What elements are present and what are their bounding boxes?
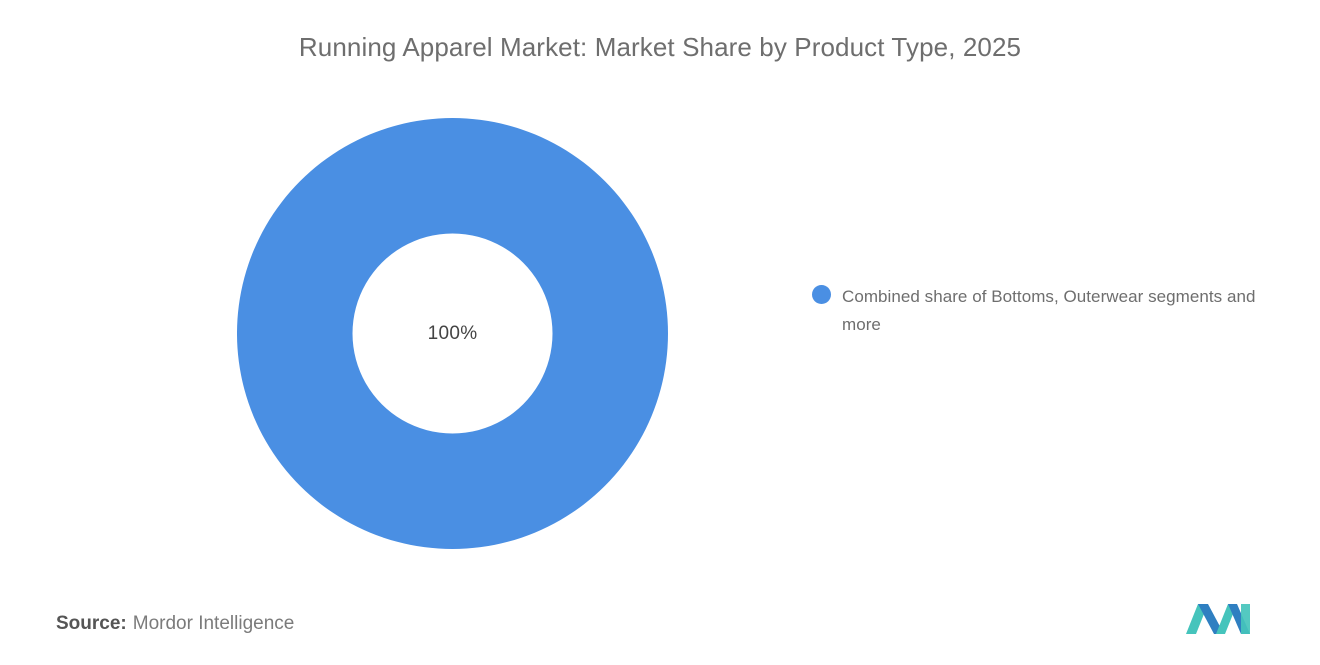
legend-swatch-icon [812,285,831,304]
legend-item[interactable]: Combined share of Bottoms, Outerwear seg… [812,283,1257,339]
donut-chart: 100% [237,118,668,549]
donut-svg [237,118,668,549]
source-value: Mordor Intelligence [133,613,295,634]
mordor-intelligence-logo [1184,600,1252,638]
legend-item-label: Combined share of Bottoms, Outerwear seg… [842,283,1257,339]
logo-icon [1184,600,1252,638]
source-attribution: Source:Mordor Intelligence [56,613,294,635]
chart-plot-area: 100% [0,95,790,575]
source-label: Source: [56,613,127,634]
donut-slice-combined-share[interactable] [237,118,668,549]
chart-legend: Combined share of Bottoms, Outerwear seg… [812,283,1257,339]
chart-title: Running Apparel Market: Market Share by … [0,32,1320,63]
